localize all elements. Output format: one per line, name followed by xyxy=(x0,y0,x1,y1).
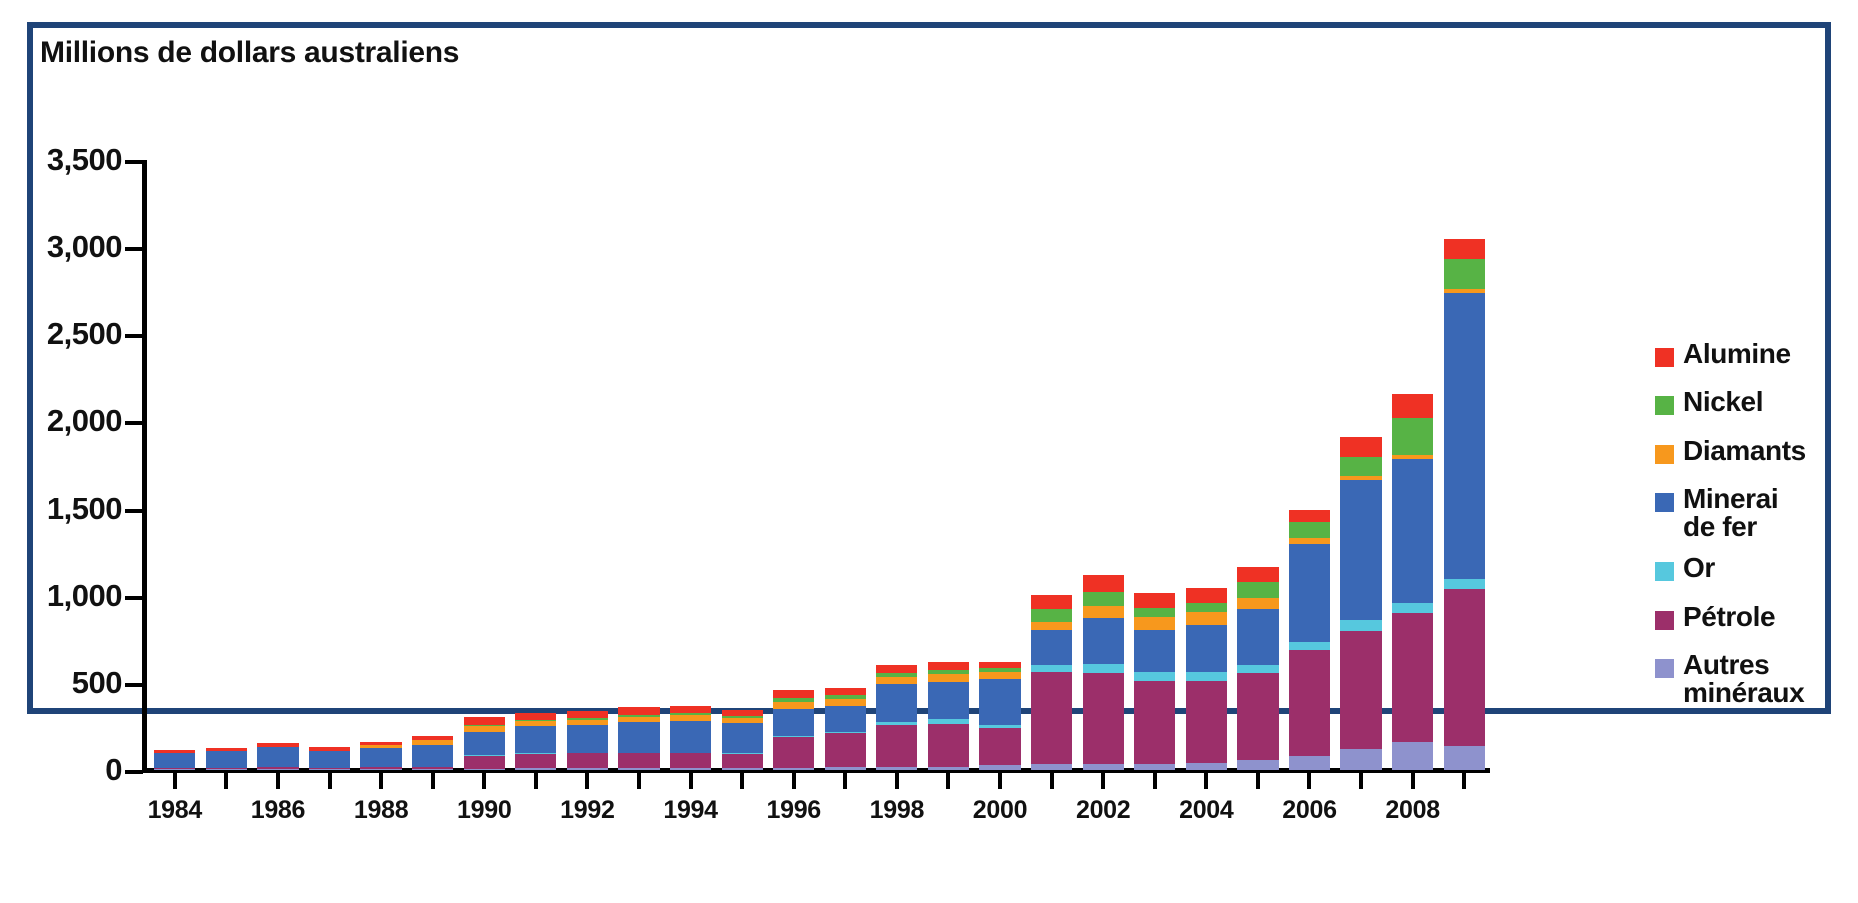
legend-swatch-nickel xyxy=(1655,396,1674,415)
x-axis-tick xyxy=(1307,773,1311,789)
y-axis-tick xyxy=(125,683,143,687)
bar-segment-petrole xyxy=(1031,672,1072,764)
x-axis-tick xyxy=(946,773,950,789)
bar-segment-autres_mineraux xyxy=(1083,764,1124,770)
bar-2002[interactable] xyxy=(1083,575,1124,770)
bar-segment-minerai_de_fer xyxy=(567,725,608,753)
x-axis-tick xyxy=(998,773,1002,789)
x-axis-tick xyxy=(224,773,228,789)
bar-segment-minerai_de_fer xyxy=(670,721,711,753)
bar-segment-diamants xyxy=(928,674,969,682)
legend-label-or: Or xyxy=(1683,554,1715,581)
bar-segment-nickel xyxy=(1289,522,1330,539)
bar-segment-petrole xyxy=(1289,650,1330,756)
y-axis-tick-label: 0 xyxy=(2,752,122,788)
bar-segment-petrole xyxy=(1340,631,1381,750)
x-axis-tick xyxy=(1153,773,1157,789)
x-axis-tick-label: 2008 xyxy=(1385,796,1439,825)
bar-1985[interactable] xyxy=(206,748,247,770)
x-axis-tick xyxy=(1204,773,1208,789)
bar-segment-minerai_de_fer xyxy=(1340,480,1381,620)
bar-segment-or xyxy=(1340,620,1381,630)
x-axis-tick xyxy=(843,773,847,789)
bar-segment-minerai_de_fer xyxy=(464,732,505,755)
bar-segment-petrole xyxy=(515,754,556,769)
x-axis-tick-label: 2004 xyxy=(1179,796,1233,825)
bar-segment-minerai_de_fer xyxy=(618,722,659,753)
bar-segment-nickel xyxy=(1134,608,1175,618)
bar-2006[interactable] xyxy=(1289,510,1330,771)
legend-swatch-petrole xyxy=(1655,611,1674,630)
bar-1986[interactable] xyxy=(257,743,298,770)
x-axis-tick-label: 2006 xyxy=(1282,796,1336,825)
bar-segment-nickel xyxy=(1083,592,1124,607)
y-axis-tick xyxy=(125,334,143,338)
y-axis-line xyxy=(142,160,147,772)
x-axis-tick xyxy=(1050,773,1054,789)
bar-segment-minerai_de_fer xyxy=(360,748,401,767)
bar-1996[interactable] xyxy=(773,690,814,770)
bar-1994[interactable] xyxy=(670,706,711,770)
bar-segment-minerai_de_fer xyxy=(928,682,969,719)
bar-segment-nickel xyxy=(1237,582,1278,599)
bar-segment-autres_mineraux xyxy=(1289,756,1330,770)
bar-segment-autres_mineraux xyxy=(1134,764,1175,770)
bar-segment-autres_mineraux xyxy=(1186,763,1227,770)
y-axis-tick xyxy=(125,509,143,513)
x-axis-tick-label: 1984 xyxy=(148,796,202,825)
bar-1999[interactable] xyxy=(928,662,969,770)
legend-swatch-or xyxy=(1655,562,1674,581)
bar-2009[interactable] xyxy=(1444,239,1485,770)
bar-segment-autres_mineraux xyxy=(257,769,298,770)
bar-segment-minerai_de_fer xyxy=(154,753,195,768)
x-axis-tick xyxy=(431,773,435,789)
bar-segment-minerai_de_fer xyxy=(1083,618,1124,664)
bar-segment-autres_mineraux xyxy=(773,768,814,770)
bar-segment-diamants xyxy=(1237,598,1278,608)
bar-segment-diamants xyxy=(1134,617,1175,629)
bar-segment-autres_mineraux xyxy=(1340,749,1381,770)
bar-segment-minerai_de_fer xyxy=(1186,625,1227,673)
bar-segment-minerai_de_fer xyxy=(1237,609,1278,665)
bar-segment-minerai_de_fer xyxy=(825,706,866,732)
x-axis-tick-label: 1996 xyxy=(766,796,820,825)
legend-label-petrole: Pétrole xyxy=(1683,603,1775,630)
bar-segment-petrole xyxy=(567,753,608,768)
bar-segment-alumine xyxy=(1392,394,1433,418)
legend-swatch-diamants xyxy=(1655,445,1674,464)
bar-segment-minerai_de_fer xyxy=(979,679,1020,724)
x-axis-tick xyxy=(534,773,538,789)
bar-segment-nickel xyxy=(1186,603,1227,613)
bar-1997[interactable] xyxy=(825,688,866,770)
bar-2007[interactable] xyxy=(1340,437,1381,770)
bar-segment-alumine xyxy=(1031,595,1072,609)
legend-label-autres_mineraux: Autres minéraux xyxy=(1683,651,1804,706)
x-axis-tick xyxy=(482,773,486,789)
x-axis-tick xyxy=(1101,773,1105,789)
bar-segment-petrole xyxy=(876,725,917,767)
bar-segment-autres_mineraux xyxy=(928,767,969,770)
x-axis-tick xyxy=(1359,773,1363,789)
y-axis-tick xyxy=(125,596,143,600)
bar-segment-alumine xyxy=(825,688,866,695)
bar-segment-autres_mineraux xyxy=(979,765,1020,770)
bar-segment-or xyxy=(1237,665,1278,674)
bar-segment-petrole xyxy=(1237,673,1278,760)
bar-segment-or xyxy=(1392,603,1433,613)
x-axis-tick xyxy=(740,773,744,789)
bar-segment-petrole xyxy=(825,733,866,767)
plot-area: 1984198619881990199219941996199820002002… xyxy=(142,160,1632,770)
x-axis-tick xyxy=(1256,773,1260,789)
bar-segment-minerai_de_fer xyxy=(412,745,453,767)
bar-segment-minerai_de_fer xyxy=(1289,544,1330,642)
bar-segment-or xyxy=(1083,664,1124,674)
legend-label-diamants: Diamants xyxy=(1683,437,1806,464)
chart-title: Millions de dollars australiens xyxy=(40,36,459,70)
bar-segment-autres_mineraux xyxy=(876,767,917,770)
legend-item-autres_mineraux[interactable]: Autres minéraux xyxy=(1655,651,1840,706)
bar-segment-alumine xyxy=(876,665,917,673)
bar-segment-minerai_de_fer xyxy=(206,751,247,768)
bar-segment-diamants xyxy=(1186,612,1227,624)
bar-1984[interactable] xyxy=(154,750,195,770)
x-axis-tick-label: 1988 xyxy=(354,796,408,825)
bar-1990[interactable] xyxy=(464,717,505,770)
legend-label-alumine: Alumine xyxy=(1683,340,1791,367)
bar-segment-diamants xyxy=(773,702,814,709)
bar-segment-petrole xyxy=(979,728,1020,765)
bar-1991[interactable] xyxy=(515,713,556,770)
bar-segment-alumine xyxy=(1289,510,1330,522)
y-axis-tick xyxy=(125,160,143,164)
bar-segment-autres_mineraux xyxy=(515,768,556,770)
x-axis-tick-label: 1994 xyxy=(663,796,717,825)
x-axis-tick xyxy=(379,773,383,789)
legend-swatch-autres_mineraux xyxy=(1655,659,1674,678)
bars-container xyxy=(149,160,1490,770)
bar-1989[interactable] xyxy=(412,736,453,770)
x-axis-tick xyxy=(895,773,899,789)
bar-segment-petrole xyxy=(1444,589,1485,747)
bar-segment-petrole xyxy=(773,737,814,768)
bar-1992[interactable] xyxy=(567,711,608,770)
bar-segment-alumine xyxy=(1340,437,1381,457)
bar-segment-alumine xyxy=(722,710,763,717)
bar-segment-alumine xyxy=(670,706,711,713)
x-axis-tick-label: 2000 xyxy=(973,796,1027,825)
bar-segment-autres_mineraux xyxy=(670,768,711,770)
bar-segment-autres_mineraux xyxy=(1444,746,1485,770)
bar-segment-diamants xyxy=(979,672,1020,680)
bar-segment-alumine xyxy=(1134,593,1175,608)
bar-segment-petrole xyxy=(1186,681,1227,763)
bar-segment-autres_mineraux xyxy=(412,769,453,770)
bar-segment-minerai_de_fer xyxy=(1444,293,1485,579)
bar-segment-or xyxy=(1289,642,1330,650)
bar-segment-autres_mineraux xyxy=(567,768,608,770)
legend-label-nickel: Nickel xyxy=(1683,388,1763,415)
bar-segment-autres_mineraux xyxy=(1237,760,1278,770)
legend-swatch-minerai_de_fer xyxy=(1655,493,1674,512)
legend-item-or[interactable]: Or xyxy=(1655,554,1840,581)
bar-1988[interactable] xyxy=(360,742,401,770)
x-axis-tick xyxy=(689,773,693,789)
bar-2001[interactable] xyxy=(1031,595,1072,770)
bar-segment-minerai_de_fer xyxy=(309,751,350,768)
bar-1995[interactable] xyxy=(722,710,763,770)
bar-segment-diamants xyxy=(1083,606,1124,617)
legend-label-minerai_de_fer: Minerai de fer xyxy=(1683,485,1778,540)
bar-segment-autres_mineraux xyxy=(360,769,401,770)
bar-segment-nickel xyxy=(1031,609,1072,622)
x-axis-tick xyxy=(792,773,796,789)
bar-segment-petrole xyxy=(1134,681,1175,764)
bar-segment-autres_mineraux xyxy=(309,769,350,770)
x-axis-tick-label: 1986 xyxy=(251,796,305,825)
bar-segment-autres_mineraux xyxy=(825,767,866,770)
x-axis-tick xyxy=(173,773,177,789)
bar-segment-alumine xyxy=(1083,575,1124,592)
bar-2003[interactable] xyxy=(1134,593,1175,770)
bar-segment-alumine xyxy=(1237,567,1278,582)
x-axis-tick-label: 1990 xyxy=(457,796,511,825)
bar-1998[interactable] xyxy=(876,665,917,770)
bar-segment-minerai_de_fer xyxy=(876,684,917,721)
bar-segment-alumine xyxy=(1186,588,1227,603)
chart-legend: AlumineNickelDiamantsMinerai de ferOrPét… xyxy=(1655,340,1840,720)
bar-segment-minerai_de_fer xyxy=(773,709,814,736)
bar-segment-alumine xyxy=(464,717,505,725)
bar-segment-nickel xyxy=(1444,259,1485,290)
bar-segment-autres_mineraux xyxy=(1031,764,1072,770)
bar-segment-autres_mineraux xyxy=(154,769,195,770)
bar-segment-alumine xyxy=(515,713,556,720)
bar-segment-minerai_de_fer xyxy=(515,726,556,753)
x-axis-tick xyxy=(1411,773,1415,789)
bar-segment-or xyxy=(1134,672,1175,681)
x-axis-tick xyxy=(637,773,641,789)
bar-2008[interactable] xyxy=(1392,394,1433,770)
bar-segment-petrole xyxy=(618,753,659,768)
bar-segment-diamants xyxy=(1031,622,1072,630)
bar-segment-minerai_de_fer xyxy=(1392,459,1433,603)
bar-segment-minerai_de_fer xyxy=(1031,630,1072,665)
bar-segment-autres_mineraux xyxy=(618,768,659,770)
x-axis-tick xyxy=(276,773,280,789)
y-axis-tick xyxy=(125,770,143,774)
bar-segment-petrole xyxy=(722,754,763,768)
legend-swatch-alumine xyxy=(1655,348,1674,367)
y-axis-tick xyxy=(125,247,143,251)
legend-item-alumine[interactable]: Alumine xyxy=(1655,340,1840,367)
x-axis-tick-label: 2002 xyxy=(1076,796,1130,825)
x-axis-tick-label: 1998 xyxy=(870,796,924,825)
bar-segment-petrole xyxy=(670,753,711,768)
bar-segment-autres_mineraux xyxy=(206,769,247,770)
bar-segment-alumine xyxy=(567,711,608,718)
bar-segment-petrole xyxy=(928,724,969,767)
bar-2005[interactable] xyxy=(1237,567,1278,770)
legend-item-minerai_de_fer[interactable]: Minerai de fer xyxy=(1655,485,1840,540)
bar-segment-alumine xyxy=(618,707,659,714)
bar-segment-diamants xyxy=(876,677,917,684)
bar-segment-autres_mineraux xyxy=(722,768,763,770)
bar-segment-or xyxy=(1186,672,1227,681)
bar-segment-minerai_de_fer xyxy=(1134,630,1175,673)
bar-segment-autres_mineraux xyxy=(1392,742,1433,770)
bar-segment-diamants xyxy=(825,699,866,706)
bar-segment-alumine xyxy=(928,662,969,670)
legend-item-nickel[interactable]: Nickel xyxy=(1655,388,1840,415)
bar-segment-autres_mineraux xyxy=(464,769,505,770)
bar-segment-petrole xyxy=(1083,673,1124,764)
bar-segment-or xyxy=(1031,665,1072,672)
bar-segment-alumine xyxy=(773,690,814,698)
bar-2004[interactable] xyxy=(1186,588,1227,770)
bar-segment-or xyxy=(1444,579,1485,589)
bar-1987[interactable] xyxy=(309,747,350,770)
x-axis-tick-label: 1992 xyxy=(560,796,614,825)
bar-2000[interactable] xyxy=(979,662,1020,770)
bar-1993[interactable] xyxy=(618,707,659,770)
x-axis-tick xyxy=(585,773,589,789)
bar-segment-minerai_de_fer xyxy=(722,723,763,754)
legend-item-diamants[interactable]: Diamants xyxy=(1655,437,1840,464)
bar-segment-alumine xyxy=(1444,239,1485,258)
y-axis-tick xyxy=(125,421,143,425)
x-axis-tick xyxy=(328,773,332,789)
legend-item-petrole[interactable]: Pétrole xyxy=(1655,603,1840,630)
bar-segment-minerai_de_fer xyxy=(257,747,298,767)
bar-segment-nickel xyxy=(1340,457,1381,475)
x-axis-tick xyxy=(1462,773,1466,789)
bar-segment-petrole xyxy=(464,756,505,769)
bar-segment-petrole xyxy=(1392,613,1433,742)
bar-segment-nickel xyxy=(1392,418,1433,455)
